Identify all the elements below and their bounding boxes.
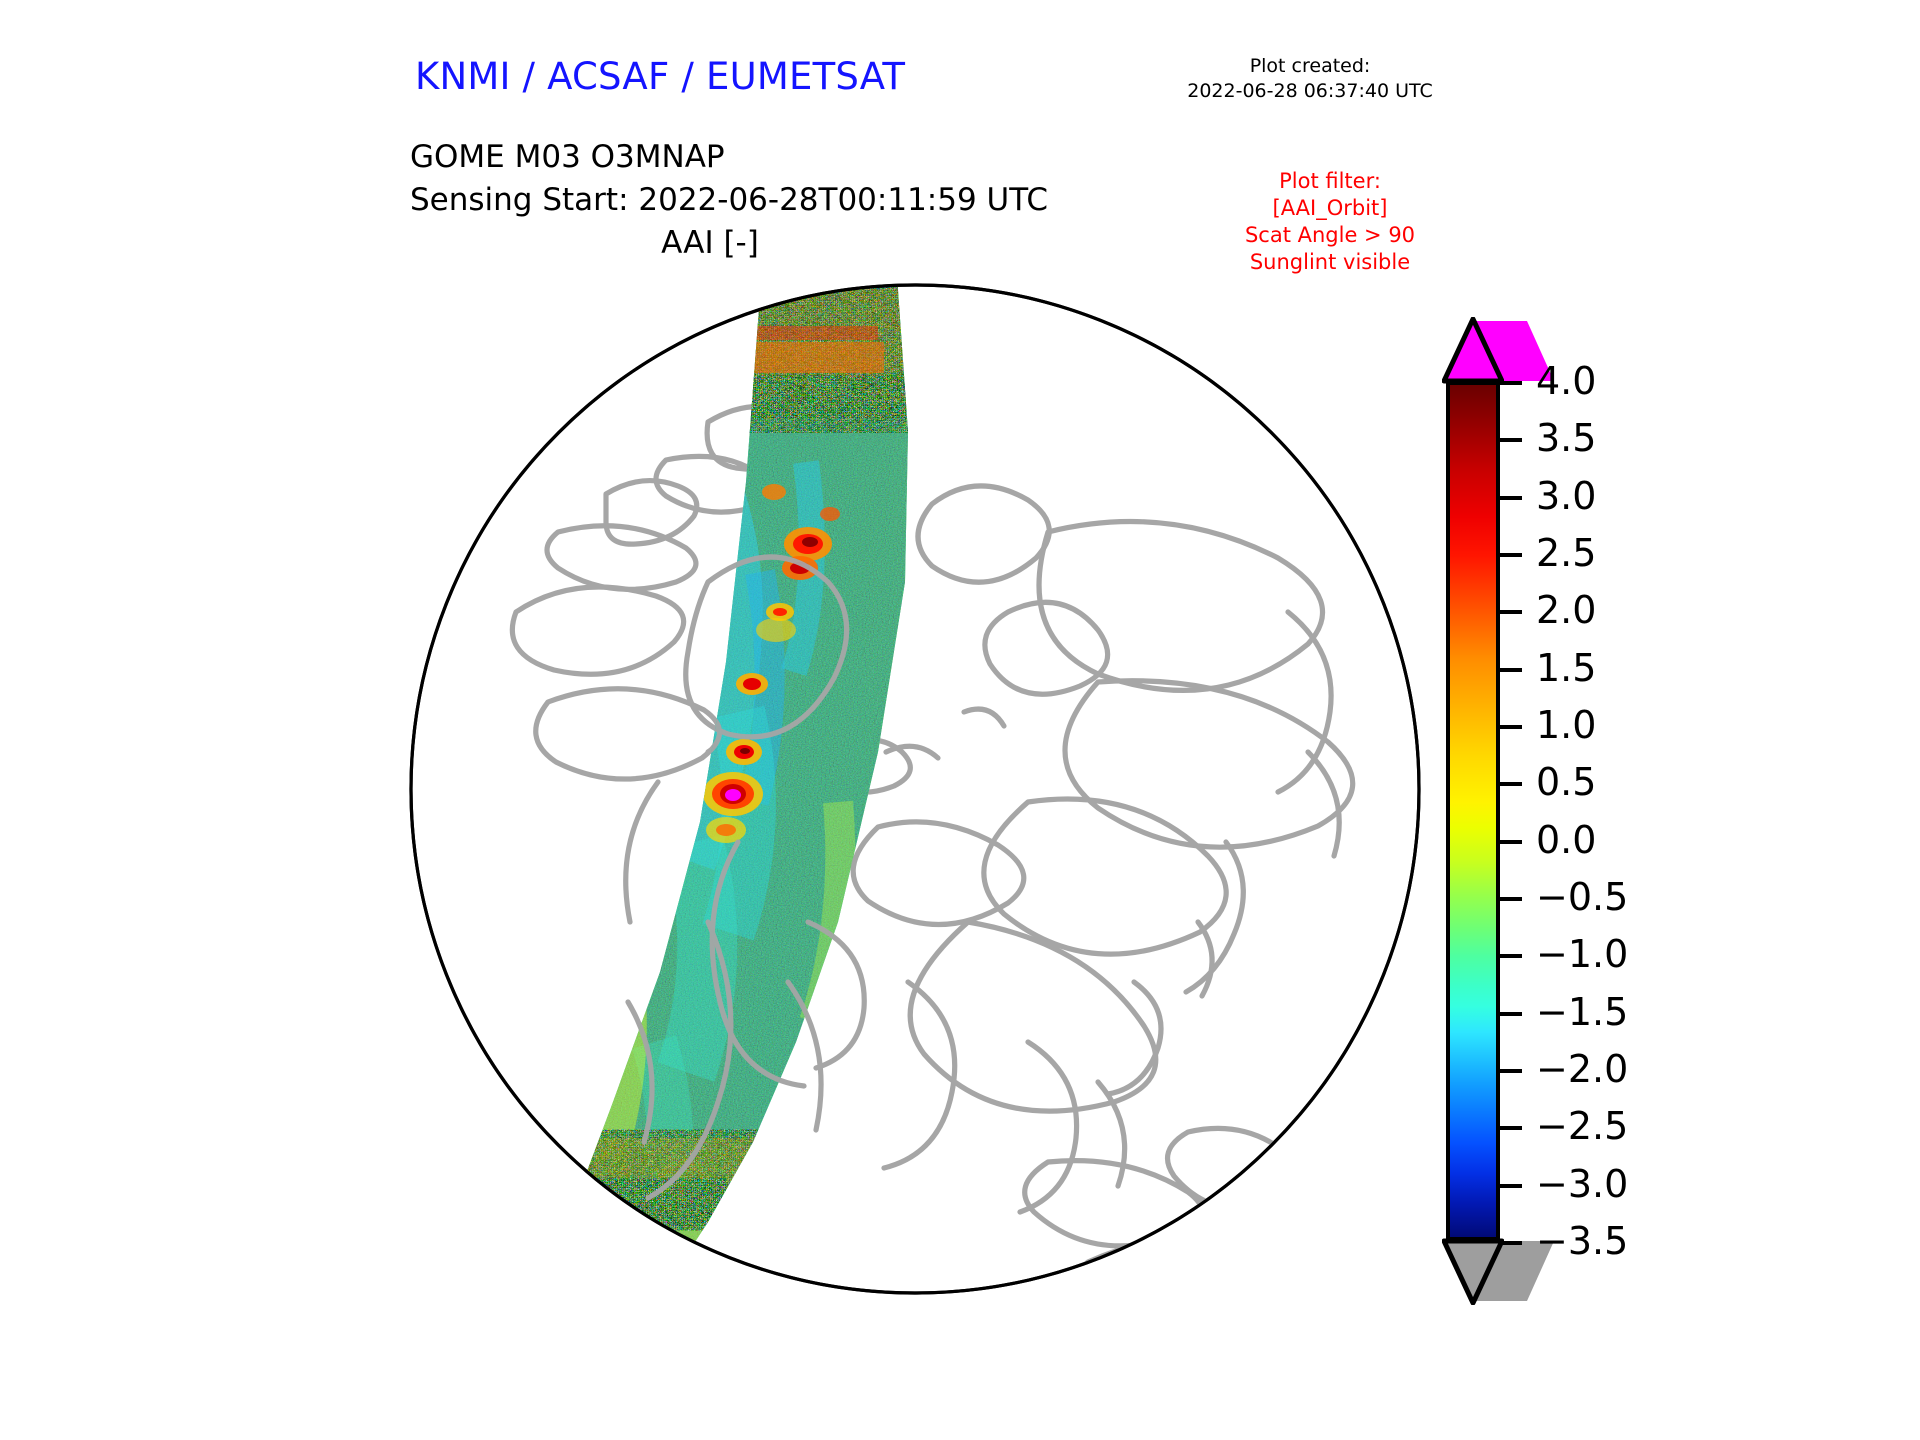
plot-created-label: Plot created: [1155,54,1465,79]
colorbar-tick [1500,1069,1522,1073]
colorbar-tick [1500,610,1522,614]
colorbar-tick [1500,1126,1522,1130]
colorbar-tick [1500,1241,1522,1245]
colorbar-tick [1500,438,1522,442]
plot-created-time: 2022-06-28 06:37:40 UTC [1155,79,1465,104]
colorbar-gradient [1446,381,1500,1241]
plot-created-block: Plot created: 2022-06-28 06:37:40 UTC [1155,54,1465,104]
plot-filter-block: Plot filter: [AAI_Orbit] Scat Angle > 90… [1180,168,1480,276]
globe-map [408,282,1422,1296]
colorbar-over-arrow-outline [1442,317,1504,385]
colorbar-tick-label: 0.5 [1536,763,1596,801]
colorbar-tick-label: 1.0 [1536,706,1596,744]
colorbar-tick [1500,381,1522,385]
colorbar-tick [1500,1012,1522,1016]
plot-filter-condition: Scat Angle > 90 [1180,222,1480,249]
colorbar-tick-label: 1.5 [1536,649,1596,687]
colorbar-tick [1500,954,1522,958]
colorbar-tick-label: 3.5 [1536,419,1596,457]
plot-filter-name: [AAI_Orbit] [1180,195,1480,222]
colorbar-tick [1500,840,1522,844]
sensing-start-line: Sensing Start: 2022-06-28T00:11:59 UTC [410,179,1048,222]
plot-filter-title: Plot filter: [1180,168,1480,195]
colorbar-tick-label: −0.5 [1536,878,1628,916]
product-info-block: GOME M03 O3MNAP Sensing Start: 2022-06-2… [410,136,1048,222]
colorbar-tick-label: 0.0 [1536,821,1596,859]
colorbar-tick-label: −3.5 [1536,1222,1628,1260]
colorbar-tick-label: 2.0 [1536,591,1596,629]
brand-title: KNMI / ACSAF / EUMETSAT [415,55,905,98]
colorbar-tick-label: 2.5 [1536,534,1596,572]
plot-canvas: KNMI / ACSAF / EUMETSAT Plot created: 20… [0,0,1920,1440]
colorbar-tick-label: 3.0 [1536,477,1596,515]
plot-filter-note: Sunglint visible [1180,249,1480,276]
colorbar-tick [1500,1184,1522,1188]
colorbar-tick [1500,496,1522,500]
colorbar: 4.03.53.02.52.01.51.00.50.0−0.5−1.0−1.5−… [1432,285,1762,1295]
colorbar-tick-label: −2.0 [1536,1050,1628,1088]
colorbar-tick [1500,553,1522,557]
colorbar-tick-label: −3.0 [1536,1165,1628,1203]
colorbar-tick [1500,782,1522,786]
globe-svg [408,282,1422,1296]
instrument-line: GOME M03 O3MNAP [410,136,1048,179]
colorbar-tick [1500,725,1522,729]
colorbar-tick-label: −1.0 [1536,935,1628,973]
colorbar-under-arrow-outline [1442,1237,1504,1305]
colorbar-tick-label: −1.5 [1536,993,1628,1031]
colorbar-tick-label: −2.5 [1536,1107,1628,1145]
colorbar-tick [1500,668,1522,672]
colorbar-tick [1500,897,1522,901]
colorbar-tick-label: 4.0 [1536,362,1596,400]
quantity-title: AAI [-] [410,225,1010,261]
